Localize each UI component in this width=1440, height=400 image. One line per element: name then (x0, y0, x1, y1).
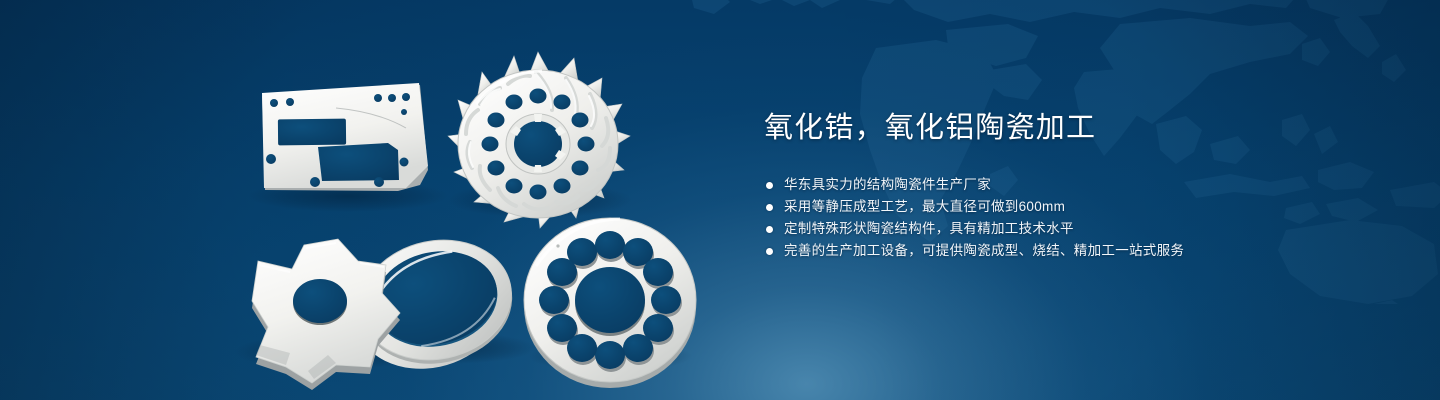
ceramic-products-image (0, 0, 740, 400)
list-item: 华东具实力的结构陶瓷件生产厂家 (766, 174, 1384, 196)
hero-banner: 氧化锆，氧化铝陶瓷加工 华东具实力的结构陶瓷件生产厂家 采用等静压成型工艺，最大… (0, 0, 1440, 400)
banner-copy: 氧化锆，氧化铝陶瓷加工 华东具实力的结构陶瓷件生产厂家 采用等静压成型工艺，最大… (764, 108, 1384, 262)
bullet-dot-icon (766, 204, 773, 211)
banner-headline: 氧化锆，氧化铝陶瓷加工 (764, 108, 1384, 148)
feature-text: 华东具实力的结构陶瓷件生产厂家 (784, 174, 991, 196)
bullet-dot-icon (766, 248, 773, 255)
bullet-dot-icon (766, 226, 773, 233)
list-item: 采用等静压成型工艺，最大直径可做到600mm (766, 196, 1384, 218)
ceramic-hole-disc-part (524, 218, 696, 388)
feature-text: 采用等静压成型工艺，最大直径可做到600mm (784, 196, 1065, 218)
feature-text: 完善的生产加工设备，可提供陶瓷成型、烧结、精加工一站式服务 (784, 240, 1184, 262)
ceramic-plate-part (262, 83, 428, 191)
feature-list: 华东具实力的结构陶瓷件生产厂家 采用等静压成型工艺，最大直径可做到600mm 定… (764, 174, 1384, 262)
feature-text: 定制特殊形状陶瓷结构件，具有精加工技术水平 (784, 218, 1074, 240)
list-item: 完善的生产加工设备，可提供陶瓷成型、烧结、精加工一站式服务 (766, 240, 1384, 262)
bullet-dot-icon (766, 182, 773, 189)
list-item: 定制特殊形状陶瓷结构件，具有精加工技术水平 (766, 218, 1384, 240)
